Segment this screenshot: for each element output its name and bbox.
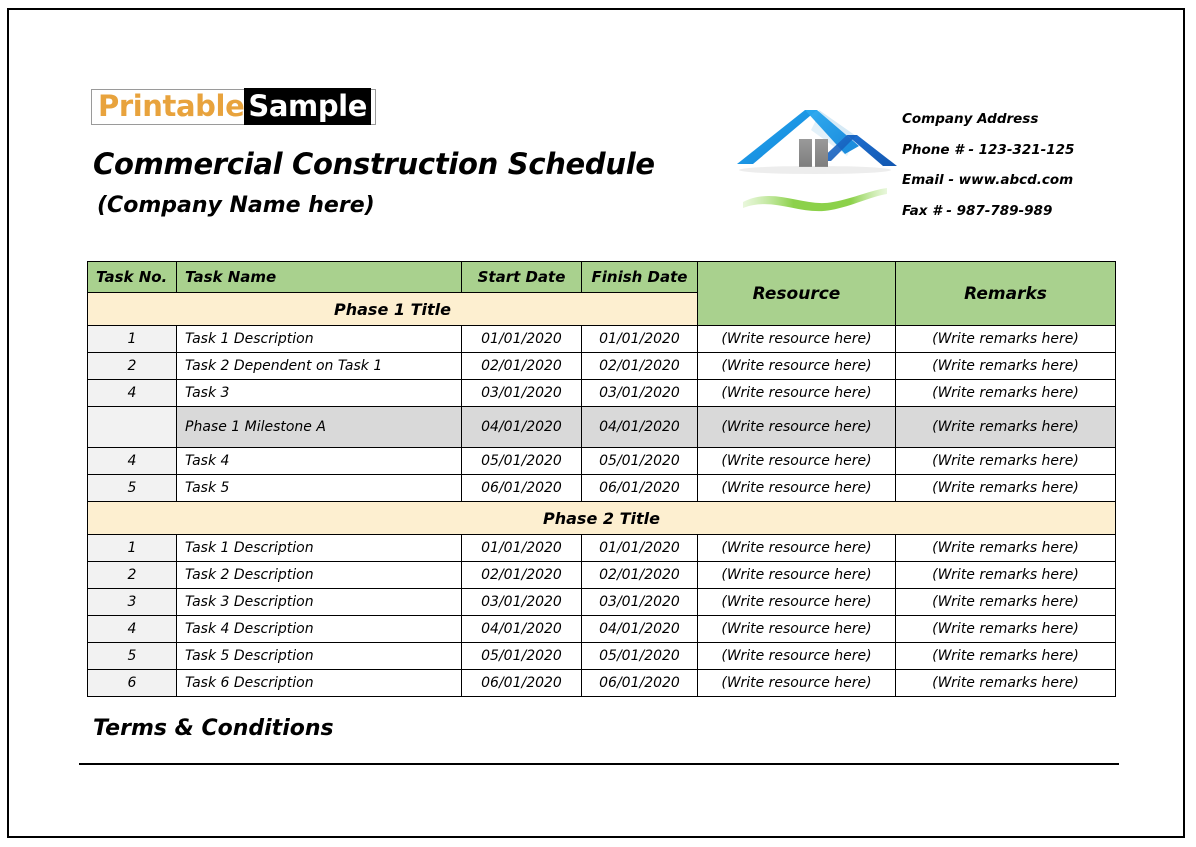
cell-start-date[interactable]: 06/01/2020 (462, 475, 582, 502)
phase-2-title-row: Phase 2 Title (88, 502, 1116, 535)
page-title: Commercial Construction Schedule (93, 147, 655, 181)
cell-resource[interactable]: (Write resource here) (698, 475, 896, 502)
cell-task-name[interactable]: Phase 1 Milestone A (177, 407, 462, 448)
cell-finish-date[interactable]: 04/01/2020 (582, 407, 698, 448)
cell-finish-date[interactable]: 05/01/2020 (582, 448, 698, 475)
table-row[interactable]: 2 Task 2 Dependent on Task 1 02/01/2020 … (88, 353, 1116, 380)
column-header-start-date[interactable]: Start Date (462, 262, 582, 293)
cell-start-date[interactable]: 05/01/2020 (462, 643, 582, 670)
contact-fax: Fax # - 987-789-989 (902, 205, 1132, 219)
cell-remarks[interactable]: (Write remarks here) (896, 448, 1116, 475)
cell-start-date[interactable]: 04/01/2020 (462, 407, 582, 448)
document-page: PrintableSample Commercial Construction … (7, 8, 1185, 838)
cell-resource[interactable]: (Write resource here) (698, 407, 896, 448)
table-row[interactable]: 5 Task 5 06/01/2020 06/01/2020 (Write re… (88, 475, 1116, 502)
page-subtitle: (Company Name here) (97, 193, 375, 218)
cell-resource[interactable]: (Write resource here) (698, 535, 896, 562)
table-head: Task No. Task Name Start Date Finish Dat… (88, 262, 1116, 326)
cell-remarks[interactable]: (Write remarks here) (896, 616, 1116, 643)
cell-task-name[interactable]: Task 1 Description (177, 326, 462, 353)
cell-remarks[interactable]: (Write remarks here) (896, 326, 1116, 353)
cell-start-date[interactable]: 05/01/2020 (462, 448, 582, 475)
contact-phone: Phone # - 123-321-125 (902, 144, 1132, 158)
cell-task-name[interactable]: Task 4 (177, 448, 462, 475)
cell-remarks[interactable]: (Write remarks here) (896, 589, 1116, 616)
document-header: PrintableSample Commercial Construction … (9, 10, 1183, 240)
cell-task-no[interactable]: 4 (88, 616, 177, 643)
table-header-row: Task No. Task Name Start Date Finish Dat… (88, 262, 1116, 293)
cell-start-date[interactable]: 01/01/2020 (462, 326, 582, 353)
cell-task-no[interactable] (88, 407, 177, 448)
cell-task-no[interactable]: 5 (88, 475, 177, 502)
cell-finish-date[interactable]: 05/01/2020 (582, 643, 698, 670)
cell-task-name[interactable]: Task 3 Description (177, 589, 462, 616)
table-row[interactable]: 3 Task 3 Description 03/01/2020 03/01/20… (88, 589, 1116, 616)
cell-remarks[interactable]: (Write remarks here) (896, 353, 1116, 380)
cell-finish-date[interactable]: 02/01/2020 (582, 562, 698, 589)
table-row[interactable]: 1 Task 1 Description 01/01/2020 01/01/20… (88, 326, 1116, 353)
table-row-milestone[interactable]: Phase 1 Milestone A 04/01/2020 04/01/202… (88, 407, 1116, 448)
column-header-finish-date[interactable]: Finish Date (582, 262, 698, 293)
cell-task-no[interactable]: 1 (88, 535, 177, 562)
table-row[interactable]: 4 Task 4 Description 04/01/2020 04/01/20… (88, 616, 1116, 643)
cell-finish-date[interactable]: 06/01/2020 (582, 670, 698, 697)
cell-finish-date[interactable]: 03/01/2020 (582, 380, 698, 407)
cell-task-no[interactable]: 2 (88, 562, 177, 589)
table-row[interactable]: 2 Task 2 Description 02/01/2020 02/01/20… (88, 562, 1116, 589)
cell-resource[interactable]: (Write resource here) (698, 353, 896, 380)
cell-task-name[interactable]: Task 2 Description (177, 562, 462, 589)
company-contact-block: Company Address Phone # - 123-321-125 Em… (902, 113, 1132, 235)
brand-logo: PrintableSample (91, 89, 376, 125)
cell-task-name[interactable]: Task 5 Description (177, 643, 462, 670)
column-header-task-no[interactable]: Task No. (88, 262, 177, 293)
column-header-resource[interactable]: Resource (698, 262, 896, 326)
cell-task-name[interactable]: Task 2 Dependent on Task 1 (177, 353, 462, 380)
table-row[interactable]: 4 Task 3 03/01/2020 03/01/2020 (Write re… (88, 380, 1116, 407)
cell-task-name[interactable]: Task 4 Description (177, 616, 462, 643)
cell-resource[interactable]: (Write resource here) (698, 643, 896, 670)
cell-resource[interactable]: (Write resource here) (698, 380, 896, 407)
cell-resource[interactable]: (Write resource here) (698, 616, 896, 643)
cell-resource[interactable]: (Write resource here) (698, 448, 896, 475)
cell-finish-date[interactable]: 03/01/2020 (582, 589, 698, 616)
cell-task-name[interactable]: Task 3 (177, 380, 462, 407)
cell-start-date[interactable]: 03/01/2020 (462, 380, 582, 407)
cell-task-no[interactable]: 4 (88, 448, 177, 475)
schedule-table: Task No. Task Name Start Date Finish Dat… (87, 261, 1116, 697)
cell-start-date[interactable]: 02/01/2020 (462, 562, 582, 589)
cell-remarks[interactable]: (Write remarks here) (896, 380, 1116, 407)
cell-finish-date[interactable]: 06/01/2020 (582, 475, 698, 502)
terms-divider (79, 763, 1119, 765)
brand-logo-word-one: Printable (98, 89, 244, 123)
cell-resource[interactable]: (Write resource here) (698, 589, 896, 616)
cell-task-name[interactable]: Task 1 Description (177, 535, 462, 562)
table-row[interactable]: 4 Task 4 05/01/2020 05/01/2020 (Write re… (88, 448, 1116, 475)
column-header-task-name[interactable]: Task Name (177, 262, 462, 293)
cell-start-date[interactable]: 02/01/2020 (462, 353, 582, 380)
cell-task-no[interactable]: 5 (88, 643, 177, 670)
cell-start-date[interactable]: 04/01/2020 (462, 616, 582, 643)
cell-start-date[interactable]: 03/01/2020 (462, 589, 582, 616)
cell-resource[interactable]: (Write resource here) (698, 670, 896, 697)
brand-logo-word-two: Sample (244, 88, 371, 125)
cell-start-date[interactable]: 01/01/2020 (462, 535, 582, 562)
cell-task-no[interactable]: 1 (88, 326, 177, 353)
cell-remarks[interactable]: (Write remarks here) (896, 407, 1116, 448)
cell-remarks[interactable]: (Write remarks here) (896, 562, 1116, 589)
cell-task-no[interactable]: 2 (88, 353, 177, 380)
cell-remarks[interactable]: (Write remarks here) (896, 475, 1116, 502)
cell-task-no[interactable]: 6 (88, 670, 177, 697)
cell-finish-date[interactable]: 04/01/2020 (582, 616, 698, 643)
cell-remarks[interactable]: (Write remarks here) (896, 670, 1116, 697)
contact-address: Company Address (902, 113, 1132, 127)
table-row[interactable]: 1 Task 1 Description 01/01/2020 01/01/20… (88, 535, 1116, 562)
cell-task-name[interactable]: Task 6 Description (177, 670, 462, 697)
terms-and-conditions-heading: Terms & Conditions (93, 716, 334, 741)
cell-resource[interactable]: (Write resource here) (698, 562, 896, 589)
cell-remarks[interactable]: (Write remarks here) (896, 535, 1116, 562)
cell-remarks[interactable]: (Write remarks here) (896, 643, 1116, 670)
phase-1-title[interactable]: Phase 1 Title (88, 293, 698, 326)
cell-start-date[interactable]: 06/01/2020 (462, 670, 582, 697)
phase-2-title[interactable]: Phase 2 Title (88, 502, 1116, 535)
cell-task-no[interactable]: 3 (88, 589, 177, 616)
table-row[interactable]: 6 Task 6 Description 06/01/2020 06/01/20… (88, 670, 1116, 697)
cell-finish-date[interactable]: 01/01/2020 (582, 326, 698, 353)
column-header-remarks[interactable]: Remarks (896, 262, 1116, 326)
cell-finish-date[interactable]: 01/01/2020 (582, 535, 698, 562)
contact-email: Email - www.abcd.com (902, 174, 1132, 188)
table-row[interactable]: 5 Task 5 Description 05/01/2020 05/01/20… (88, 643, 1116, 670)
cell-finish-date[interactable]: 02/01/2020 (582, 353, 698, 380)
house-roof-logo (727, 98, 903, 218)
cell-task-no[interactable]: 4 (88, 380, 177, 407)
cell-task-name[interactable]: Task 5 (177, 475, 462, 502)
table-body: 1 Task 1 Description 01/01/2020 01/01/20… (88, 326, 1116, 697)
cell-resource[interactable]: (Write resource here) (698, 326, 896, 353)
